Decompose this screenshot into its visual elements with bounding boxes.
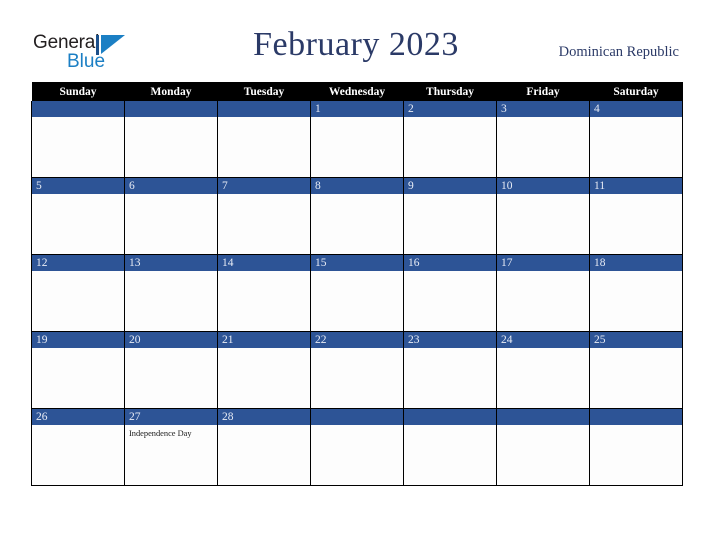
day-cell-inner: 9: [404, 178, 496, 254]
calendar-week-row: 567891011: [32, 178, 683, 255]
day-cell-inner: 3: [497, 101, 589, 177]
day-events: [125, 117, 217, 120]
day-cell-inner: [590, 409, 682, 485]
day-number: 16: [404, 255, 496, 271]
day-events: [497, 117, 589, 120]
day-number: 9: [404, 178, 496, 194]
calendar-day-cell[interactable]: 28: [218, 409, 311, 486]
day-events: [404, 425, 496, 428]
calendar-day-cell[interactable]: 16: [404, 255, 497, 332]
day-events: [218, 271, 310, 274]
weekday-header-friday: Friday: [497, 82, 590, 101]
calendar-week-row: 12131415161718: [32, 255, 683, 332]
calendar-week-row: 1234: [32, 101, 683, 178]
day-cell-inner: 28: [218, 409, 310, 485]
day-number: 25: [590, 332, 682, 348]
calendar-header-row: SundayMondayTuesdayWednesdayThursdayFrid…: [32, 82, 683, 101]
day-events: [590, 194, 682, 197]
day-cell-inner: [311, 409, 403, 485]
day-number: 5: [32, 178, 124, 194]
day-number: 3: [497, 101, 589, 117]
day-number: [125, 101, 217, 117]
day-cell-inner: 10: [497, 178, 589, 254]
day-events: [497, 271, 589, 274]
day-events: [218, 348, 310, 351]
day-events: [311, 348, 403, 351]
weekday-header-sunday: Sunday: [32, 82, 125, 101]
calendar-day-cell[interactable]: [590, 409, 683, 486]
day-events: [404, 271, 496, 274]
day-cell-inner: [497, 409, 589, 485]
calendar-day-cell[interactable]: 8: [311, 178, 404, 255]
day-events: [32, 271, 124, 274]
day-events: [404, 194, 496, 197]
day-cell-inner: 26: [32, 409, 124, 485]
day-events: [497, 425, 589, 428]
calendar-week-row: 19202122232425: [32, 332, 683, 409]
day-cell-inner: 21: [218, 332, 310, 408]
calendar-day-cell[interactable]: 21: [218, 332, 311, 409]
day-events: [590, 271, 682, 274]
day-cell-inner: 18: [590, 255, 682, 331]
day-cell-inner: [404, 409, 496, 485]
day-events: [218, 117, 310, 120]
day-number: 17: [497, 255, 589, 271]
day-cell-inner: 13: [125, 255, 217, 331]
calendar-day-cell[interactable]: 3: [497, 101, 590, 178]
day-events: [218, 425, 310, 428]
calendar-day-cell[interactable]: 15: [311, 255, 404, 332]
calendar-day-cell[interactable]: 14: [218, 255, 311, 332]
day-cell-inner: 25: [590, 332, 682, 408]
calendar-day-cell[interactable]: [497, 409, 590, 486]
day-number: 27: [125, 409, 217, 425]
day-number: 10: [497, 178, 589, 194]
day-events: [218, 194, 310, 197]
day-cell-inner: 23: [404, 332, 496, 408]
day-number: 15: [311, 255, 403, 271]
day-events: [311, 194, 403, 197]
calendar-day-cell[interactable]: 6: [125, 178, 218, 255]
day-events: [32, 348, 124, 351]
day-cell-inner: [218, 101, 310, 177]
day-events: [404, 117, 496, 120]
weekday-header-tuesday: Tuesday: [218, 82, 311, 101]
day-events: [497, 348, 589, 351]
day-events: [32, 117, 124, 120]
day-events: [497, 194, 589, 197]
day-cell-inner: 6: [125, 178, 217, 254]
calendar-day-cell[interactable]: [125, 101, 218, 178]
day-cell-inner: [125, 101, 217, 177]
day-number: 1: [311, 101, 403, 117]
day-cell-inner: [32, 101, 124, 177]
calendar-day-cell[interactable]: 24: [497, 332, 590, 409]
day-number: [404, 409, 496, 425]
calendar-day-cell[interactable]: [32, 101, 125, 178]
day-cell-inner: 15: [311, 255, 403, 331]
calendar-day-cell[interactable]: 19: [32, 332, 125, 409]
day-number: 23: [404, 332, 496, 348]
holiday-label: Independence Day: [129, 428, 213, 439]
calendar-day-cell[interactable]: 7: [218, 178, 311, 255]
calendar-day-cell[interactable]: 17: [497, 255, 590, 332]
calendar-day-cell[interactable]: [404, 409, 497, 486]
day-cell-inner: 7: [218, 178, 310, 254]
day-number: [497, 409, 589, 425]
page-header: General Blue February 2023 Dominican Rep…: [0, 0, 712, 82]
day-events: [590, 425, 682, 428]
day-cell-inner: 27Independence Day: [125, 409, 217, 485]
day-number: 20: [125, 332, 217, 348]
country-label: Dominican Republic: [559, 44, 679, 61]
day-number: [590, 409, 682, 425]
calendar-day-cell[interactable]: 12: [32, 255, 125, 332]
day-cell-inner: 5: [32, 178, 124, 254]
day-cell-inner: 16: [404, 255, 496, 331]
calendar-day-cell[interactable]: 5: [32, 178, 125, 255]
calendar-day-cell[interactable]: [218, 101, 311, 178]
day-events: [32, 425, 124, 428]
day-cell-inner: 24: [497, 332, 589, 408]
day-events: [125, 271, 217, 274]
day-number: 13: [125, 255, 217, 271]
day-number: 14: [218, 255, 310, 271]
day-cell-inner: 8: [311, 178, 403, 254]
day-events: [311, 117, 403, 120]
day-number: 8: [311, 178, 403, 194]
weekday-header-wednesday: Wednesday: [311, 82, 404, 101]
calendar-day-cell[interactable]: [311, 409, 404, 486]
day-events: [125, 194, 217, 197]
day-cell-inner: 12: [32, 255, 124, 331]
calendar-body: 1234567891011121314151617181920212223242…: [32, 101, 683, 486]
day-cell-inner: 20: [125, 332, 217, 408]
day-number: 18: [590, 255, 682, 271]
day-cell-inner: 19: [32, 332, 124, 408]
calendar-day-cell[interactable]: 11: [590, 178, 683, 255]
weekday-header-monday: Monday: [125, 82, 218, 101]
calendar-day-cell[interactable]: 27Independence Day: [125, 409, 218, 486]
day-number: 24: [497, 332, 589, 348]
calendar-day-cell[interactable]: 1: [311, 101, 404, 178]
day-number: 4: [590, 101, 682, 117]
day-cell-inner: 1: [311, 101, 403, 177]
day-number: 26: [32, 409, 124, 425]
day-number: 19: [32, 332, 124, 348]
day-events: [311, 425, 403, 428]
day-number: [218, 101, 310, 117]
day-cell-inner: 17: [497, 255, 589, 331]
day-events: Independence Day: [125, 425, 217, 439]
day-number: 7: [218, 178, 310, 194]
calendar-day-cell[interactable]: 10: [497, 178, 590, 255]
day-cell-inner: 2: [404, 101, 496, 177]
calendar-day-cell[interactable]: 22: [311, 332, 404, 409]
day-cell-inner: 22: [311, 332, 403, 408]
day-number: [32, 101, 124, 117]
day-events: [404, 348, 496, 351]
day-cell-inner: 14: [218, 255, 310, 331]
day-number: [311, 409, 403, 425]
day-number: 12: [32, 255, 124, 271]
day-number: 21: [218, 332, 310, 348]
calendar-day-cell[interactable]: 25: [590, 332, 683, 409]
calendar-day-cell[interactable]: 20: [125, 332, 218, 409]
day-events: [590, 348, 682, 351]
calendar-day-cell[interactable]: 13: [125, 255, 218, 332]
calendar-day-cell[interactable]: 18: [590, 255, 683, 332]
calendar-day-cell[interactable]: 2: [404, 101, 497, 178]
day-number: 2: [404, 101, 496, 117]
calendar-day-cell[interactable]: 9: [404, 178, 497, 255]
day-events: [590, 117, 682, 120]
calendar-day-cell[interactable]: 26: [32, 409, 125, 486]
weekday-header-saturday: Saturday: [590, 82, 683, 101]
day-number: 11: [590, 178, 682, 194]
day-events: [311, 271, 403, 274]
weekday-header-thursday: Thursday: [404, 82, 497, 101]
calendar-week-row: 2627Independence Day28: [32, 409, 683, 486]
day-number: 6: [125, 178, 217, 194]
day-number: 22: [311, 332, 403, 348]
day-cell-inner: 4: [590, 101, 682, 177]
calendar-grid: SundayMondayTuesdayWednesdayThursdayFrid…: [31, 82, 683, 486]
day-cell-inner: 11: [590, 178, 682, 254]
day-events: [125, 348, 217, 351]
calendar-day-cell[interactable]: 23: [404, 332, 497, 409]
day-events: [32, 194, 124, 197]
calendar-day-cell[interactable]: 4: [590, 101, 683, 178]
day-number: 28: [218, 409, 310, 425]
